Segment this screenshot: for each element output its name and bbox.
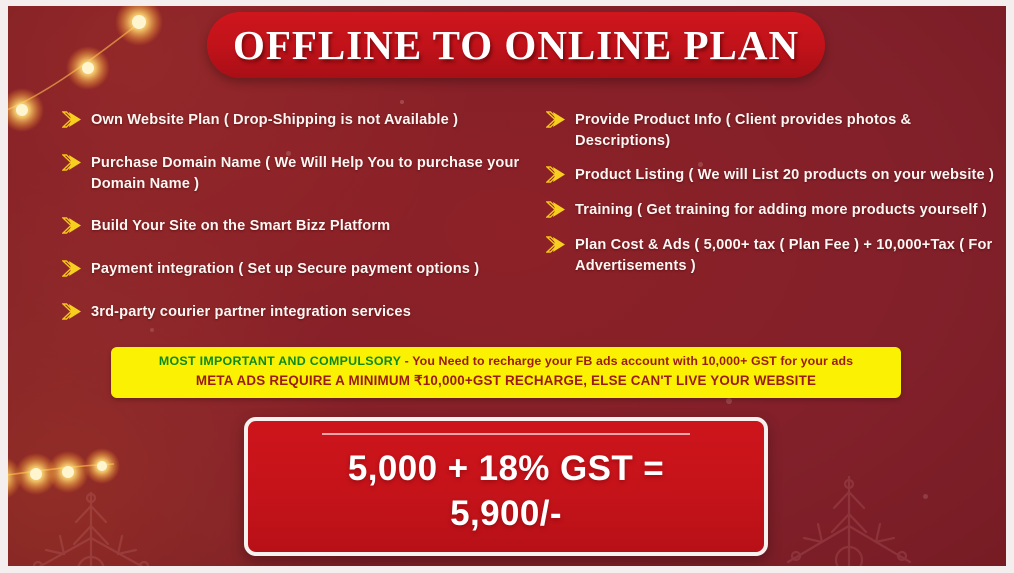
feature-column-left: Own Website Plan ( Drop-Shipping is not … [8, 110, 538, 342]
poster-canvas: OFFLINE TO ONLINE PLAN Own Website Plan … [8, 6, 1006, 566]
list-item-label: Training ( Get training for adding more … [575, 200, 987, 221]
double-chevron-right-icon [546, 111, 568, 132]
list-item-label: Purchase Domain Name ( We Will Help You … [91, 153, 538, 195]
snowflake-watermark-icon [774, 476, 924, 566]
notice-highlight: MOST IMPORTANT AND COMPULSORY [159, 354, 401, 368]
notice-line-2: META ADS REQUIRE A MINIMUM ₹10,000+GST R… [121, 373, 891, 389]
title-pill: OFFLINE TO ONLINE PLAN [207, 12, 825, 78]
list-item-label: Provide Product Info ( Client provides p… [575, 110, 1006, 152]
double-chevron-right-icon [62, 303, 84, 324]
background-speck [923, 494, 928, 499]
list-item-label: Plan Cost & Ads ( 5,000+ tax ( Plan Fee … [575, 235, 1006, 277]
list-item-label: Payment integration ( Set up Secure paym… [91, 259, 479, 280]
string-lights-bottom-left-icon [8, 438, 250, 548]
list-item: Provide Product Info ( Client provides p… [546, 110, 1006, 152]
price-divider [322, 433, 690, 435]
list-item: 3rd-party courier partner integration se… [62, 302, 538, 324]
background-speck [400, 100, 404, 104]
title-banner: OFFLINE TO ONLINE PLAN [207, 12, 825, 78]
double-chevron-right-icon [62, 260, 84, 281]
double-chevron-right-icon [546, 166, 568, 187]
list-item-label: Own Website Plan ( Drop-Shipping is not … [91, 110, 458, 131]
price-line-1: 5,000 + 18% GST = [348, 449, 664, 488]
compulsory-notice-banner: MOST IMPORTANT AND COMPULSORY - You Need… [111, 347, 901, 398]
list-item: Product Listing ( We will List 20 produc… [546, 165, 1006, 187]
background-speck [726, 398, 732, 404]
list-item: Training ( Get training for adding more … [546, 200, 1006, 222]
price-amount: 5,000 + 18% GST = 5,900/- [248, 447, 764, 537]
price-box: 5,000 + 18% GST = 5,900/- [244, 417, 768, 556]
double-chevron-right-icon [546, 236, 568, 257]
double-chevron-right-icon [62, 111, 84, 132]
list-item: Payment integration ( Set up Secure paym… [62, 259, 538, 281]
list-item: Own Website Plan ( Drop-Shipping is not … [62, 110, 538, 132]
double-chevron-right-icon [62, 154, 84, 175]
list-item: Plan Cost & Ads ( 5,000+ tax ( Plan Fee … [546, 235, 1006, 277]
notice-line-1-rest: - You Need to recharge your FB ads accou… [401, 354, 853, 368]
feature-column-right: Provide Product Info ( Client provides p… [538, 110, 1006, 342]
list-item-label: Build Your Site on the Smart Bizz Platfo… [91, 216, 390, 237]
list-item: Purchase Domain Name ( We Will Help You … [62, 153, 538, 195]
double-chevron-right-icon [62, 217, 84, 238]
double-chevron-right-icon [546, 201, 568, 222]
notice-line-1: MOST IMPORTANT AND COMPULSORY - You Need… [121, 354, 891, 368]
snowflake-watermark-icon [16, 492, 166, 566]
list-item: Build Your Site on the Smart Bizz Platfo… [62, 216, 538, 238]
list-item-label: 3rd-party courier partner integration se… [91, 302, 411, 323]
page-title: OFFLINE TO ONLINE PLAN [233, 21, 799, 69]
poster: OFFLINE TO ONLINE PLAN Own Website Plan … [0, 0, 1014, 573]
feature-columns: Own Website Plan ( Drop-Shipping is not … [8, 110, 1006, 342]
price-line-2: 5,900/- [450, 494, 562, 533]
list-item-label: Product Listing ( We will List 20 produc… [575, 165, 994, 186]
